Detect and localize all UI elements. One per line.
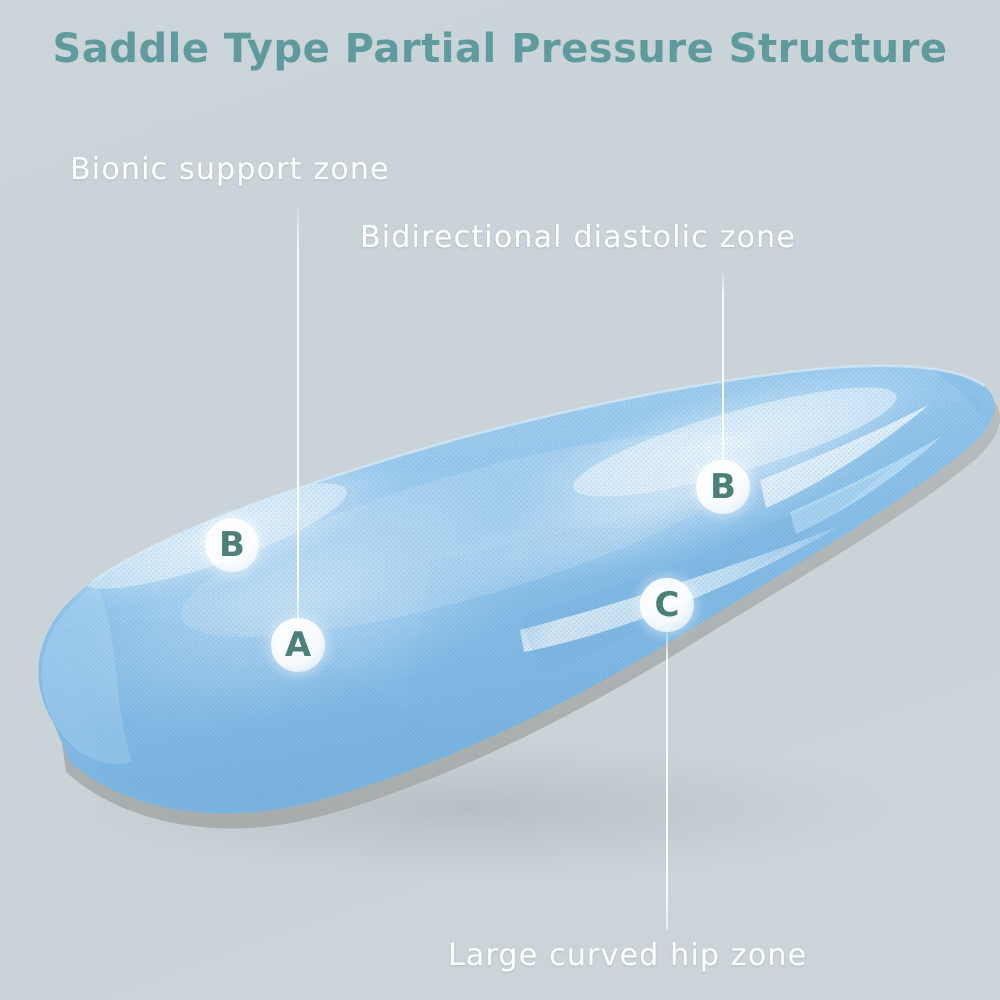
zone-marker-b-right: B (696, 460, 750, 514)
callout-label-large-curved-hip-zone: Large curved hip zone (448, 938, 807, 973)
page-title: Saddle Type Partial Pressure Structure (0, 26, 1000, 72)
callout-label-bionic-support-zone: Bionic support zone (70, 152, 390, 187)
zone-marker-a: A (271, 618, 325, 672)
zone-marker-b-left: B (205, 518, 259, 572)
product-illustration (0, 300, 1000, 900)
leader-line-bionic (297, 206, 299, 622)
callout-label-bidirectional-diastolic-zone: Bidirectional diastolic zone (360, 220, 796, 255)
zone-marker-c: C (640, 578, 694, 632)
infographic-canvas: Saddle Type Partial Pressure Structure (0, 0, 1000, 1000)
leader-line-bidirectional (722, 272, 724, 464)
leader-line-hip (666, 628, 668, 930)
cushion-svg (0, 300, 1000, 900)
